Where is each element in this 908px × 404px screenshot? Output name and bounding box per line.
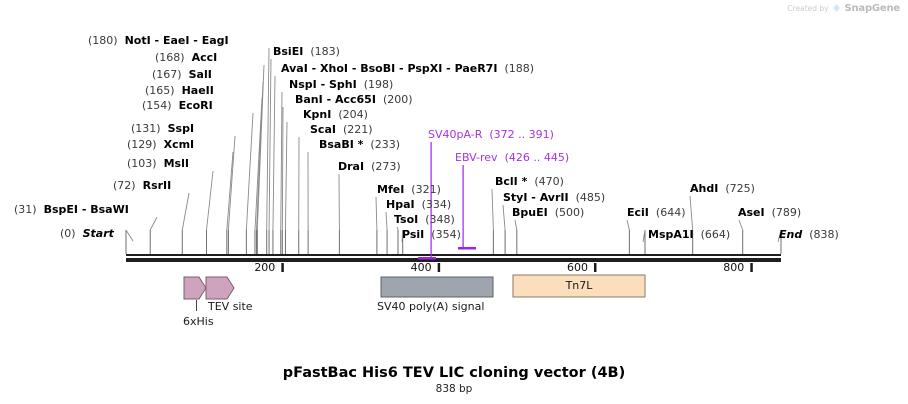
enzyme-name: EcoRI bbox=[179, 99, 213, 112]
enzyme-position: (789) bbox=[772, 206, 802, 219]
enzyme-label[interactable]: AseI (789) bbox=[738, 207, 801, 218]
backbone-thin-line bbox=[126, 254, 781, 256]
enzyme-position: (31) bbox=[14, 203, 37, 216]
enzyme-name: BsoBI bbox=[360, 62, 395, 75]
enzyme-cut-tick bbox=[266, 230, 267, 254]
enzyme-cut-tick bbox=[226, 230, 227, 254]
enzyme-cut-tick bbox=[282, 230, 283, 254]
enzyme-name: Acc65I bbox=[335, 93, 376, 106]
enzyme-name: MspA1I bbox=[648, 228, 694, 241]
enzyme-label[interactable]: HpaI (334) bbox=[386, 199, 451, 210]
enzyme-cut-tick bbox=[246, 230, 247, 254]
enzyme-position: (644) bbox=[656, 206, 686, 219]
enzyme-label[interactable]: MfeI (321) bbox=[377, 184, 441, 195]
enzyme-leader-line bbox=[150, 217, 157, 230]
enzyme-label[interactable]: BanI - Acc65I (200) bbox=[295, 94, 413, 105]
enzyme-position: (131) bbox=[131, 122, 161, 135]
enzyme-name-separator: - bbox=[189, 34, 201, 47]
enzyme-label[interactable]: (0) Start bbox=[60, 228, 114, 239]
enzyme-position: (129) bbox=[127, 138, 157, 151]
enzyme-position: (183) bbox=[310, 45, 340, 58]
enzyme-cut-tick bbox=[150, 230, 151, 254]
map-graphics-layer bbox=[0, 0, 908, 404]
enzyme-position: (180) bbox=[88, 34, 118, 47]
enzyme-label[interactable]: AvaI - XhoI - BsoBI - PspXI - PaeR7I (18… bbox=[281, 63, 534, 74]
enzyme-label[interactable]: PsiI (354) bbox=[402, 229, 461, 240]
enzyme-position: (348) bbox=[425, 213, 455, 226]
enzyme-position: (188) bbox=[504, 62, 534, 75]
enzyme-name: PsiI bbox=[402, 228, 424, 241]
enzyme-leader-line bbox=[492, 189, 493, 230]
enzyme-position: (233) bbox=[370, 138, 400, 151]
enzyme-label[interactable]: BsiEI (183) bbox=[273, 46, 340, 57]
enzyme-leader-line bbox=[269, 59, 271, 230]
enzyme-leader-line bbox=[273, 76, 275, 230]
enzyme-cut-tick bbox=[376, 230, 377, 254]
enzyme-label[interactable]: (168) AccI bbox=[155, 52, 217, 63]
enzyme-label[interactable]: KpnI (204) bbox=[303, 109, 368, 120]
enzyme-name: SspI bbox=[168, 122, 194, 135]
enzyme-leader-line bbox=[690, 196, 693, 230]
enzyme-cut-tick bbox=[182, 230, 183, 254]
enzyme-label[interactable]: (129) XcmI bbox=[127, 139, 194, 150]
enzyme-name: XhoI bbox=[320, 62, 348, 75]
primer-label[interactable]: EBV-rev (426 .. 445) bbox=[455, 152, 569, 163]
enzyme-position: (664) bbox=[701, 228, 731, 241]
enzyme-name: BpuEI bbox=[512, 206, 548, 219]
enzyme-name: BsaWI bbox=[90, 203, 129, 216]
enzyme-label[interactable]: StyI - AvrII (485) bbox=[503, 192, 605, 203]
enzyme-label[interactable]: (103) MslI bbox=[127, 158, 189, 169]
enzyme-cut-tick bbox=[228, 230, 229, 254]
enzyme-label[interactable]: BpuEI (500) bbox=[512, 207, 584, 218]
enzyme-label[interactable]: (180) NotI - EaeI - EagI bbox=[88, 35, 229, 46]
primer-bar bbox=[418, 257, 436, 260]
enzyme-position: (321) bbox=[411, 183, 441, 196]
enzyme-label[interactable]: (167) SalI bbox=[152, 69, 212, 80]
enzyme-name: StyI bbox=[503, 191, 527, 204]
enzyme-name-separator: - bbox=[151, 34, 163, 47]
primer-name: SV40pA-R bbox=[428, 128, 482, 141]
enzyme-name: End bbox=[779, 228, 802, 241]
enzyme-cut-tick bbox=[206, 230, 207, 254]
enzyme-leader-line bbox=[282, 107, 283, 230]
enzyme-name: PspXI bbox=[407, 62, 442, 75]
enzyme-position: (198) bbox=[364, 78, 394, 91]
enzyme-cut-tick bbox=[272, 230, 273, 254]
enzyme-cut-tick bbox=[269, 230, 270, 254]
enzyme-name: RsrII bbox=[143, 179, 172, 192]
enzyme-name: XcmI bbox=[164, 138, 195, 151]
enzyme-name: SalI bbox=[189, 68, 212, 81]
ruler-tick-mark bbox=[281, 263, 284, 272]
enzyme-cut-tick bbox=[254, 230, 255, 254]
primer-range: (372 .. 391) bbox=[489, 128, 554, 141]
enzyme-name: BsaBI * bbox=[319, 138, 363, 151]
enzyme-name: Start bbox=[83, 227, 114, 240]
enzyme-leader-line bbox=[386, 212, 387, 230]
enzyme-label[interactable]: BsaBI * (233) bbox=[319, 139, 400, 150]
feature-label[interactable]: 6xHis bbox=[183, 315, 214, 328]
feature-label[interactable]: SV40 poly(A) signal bbox=[377, 300, 484, 313]
enzyme-leader-line bbox=[397, 227, 398, 230]
enzyme-position: (354) bbox=[431, 228, 461, 241]
enzyme-leader-line bbox=[285, 122, 287, 230]
enzyme-cut-tick bbox=[298, 230, 299, 254]
enzyme-name: DraI bbox=[338, 160, 364, 173]
enzyme-cut-tick bbox=[308, 230, 309, 254]
enzyme-name-separator: - bbox=[395, 62, 407, 75]
enzyme-leader-line bbox=[376, 197, 377, 230]
enzyme-label[interactable]: (31) BspEI - BsaWI bbox=[14, 204, 129, 215]
plasmid-map-canvas: Created by ♦ SnapGene (180) NotI - EaeI … bbox=[0, 0, 908, 404]
ruler-tick-label: 400 bbox=[411, 261, 432, 274]
backbone-thick-line bbox=[126, 258, 781, 262]
enzyme-label[interactable]: End (838) bbox=[779, 229, 839, 240]
enzyme-cut-tick bbox=[398, 230, 399, 254]
primer-range: (426 .. 445) bbox=[505, 151, 570, 164]
enzyme-label[interactable]: EciI (644) bbox=[627, 207, 686, 218]
feature-pointer-line bbox=[196, 300, 197, 311]
primer-name: EBV-rev bbox=[455, 151, 498, 164]
enzyme-name-separator: - bbox=[308, 62, 320, 75]
sequence-length-label: 838 bp bbox=[0, 383, 908, 395]
enzyme-position: (200) bbox=[383, 93, 413, 106]
enzyme-cut-tick bbox=[285, 230, 286, 254]
enzyme-name-separator: - bbox=[527, 191, 539, 204]
enzyme-name: BclI * bbox=[495, 175, 527, 188]
enzyme-name: EciI bbox=[627, 206, 649, 219]
enzyme-cut-tick bbox=[256, 230, 257, 254]
ruler-tick-label: 200 bbox=[254, 261, 275, 274]
enzyme-name: ScaI bbox=[310, 123, 336, 136]
enzyme-leader-line bbox=[739, 220, 743, 230]
enzyme-label[interactable]: (165) HaeII bbox=[145, 85, 214, 96]
primer-label[interactable]: SV40pA-R (372 .. 391) bbox=[428, 129, 554, 140]
enzyme-name: EaeI bbox=[163, 34, 190, 47]
enzyme-cut-tick bbox=[280, 230, 281, 254]
feature-arrow bbox=[184, 277, 206, 299]
enzyme-position: (103) bbox=[127, 157, 157, 170]
enzyme-leader-line bbox=[126, 230, 133, 241]
enzyme-label[interactable]: NspI - SphI (198) bbox=[289, 79, 393, 90]
enzyme-leader-line bbox=[281, 92, 282, 230]
enzyme-leader-line bbox=[515, 220, 517, 230]
enzyme-leader-line bbox=[503, 205, 505, 230]
enzyme-leader-line bbox=[207, 171, 213, 230]
enzyme-position: (334) bbox=[422, 198, 452, 211]
enzyme-cut-tick bbox=[742, 230, 743, 254]
enzyme-name: AvrII bbox=[540, 191, 569, 204]
enzyme-label[interactable]: (72) RsrII bbox=[113, 180, 171, 191]
enzyme-name: TsoI bbox=[394, 213, 418, 226]
enzyme-position: (470) bbox=[534, 175, 564, 188]
ruler-tick-label: 600 bbox=[567, 261, 588, 274]
enzyme-cut-tick bbox=[493, 230, 494, 254]
enzyme-name: MslI bbox=[164, 157, 189, 170]
enzyme-cut-tick bbox=[339, 230, 340, 254]
enzyme-name: MfeI bbox=[377, 183, 404, 196]
ruler-tick-mark bbox=[750, 263, 753, 272]
enzyme-name-separator: - bbox=[348, 62, 360, 75]
feature-arrow bbox=[206, 277, 234, 299]
enzyme-name: AccI bbox=[192, 51, 218, 64]
enzyme-name: AseI bbox=[738, 206, 765, 219]
enzyme-position: (221) bbox=[343, 123, 373, 136]
ruler-tick-mark bbox=[594, 263, 597, 272]
enzyme-leader-line bbox=[267, 48, 269, 230]
enzyme-leader-line bbox=[246, 113, 253, 230]
enzyme-name: HaeII bbox=[182, 84, 214, 97]
enzyme-label[interactable]: TsoI (348) bbox=[394, 214, 455, 225]
enzyme-position: (273) bbox=[371, 160, 401, 173]
enzyme-cut-tick bbox=[629, 230, 630, 254]
feature-label[interactable]: Tn7L bbox=[513, 279, 645, 292]
enzyme-name: AhdI bbox=[690, 182, 718, 195]
enzyme-position: (725) bbox=[725, 182, 755, 195]
enzyme-cut-tick bbox=[516, 230, 517, 254]
enzyme-position: (485) bbox=[576, 191, 606, 204]
enzyme-name: AvaI bbox=[281, 62, 308, 75]
feature-label[interactable]: TEV site bbox=[208, 300, 253, 313]
enzyme-label[interactable]: ScaI (221) bbox=[310, 124, 373, 135]
enzyme-position: (165) bbox=[145, 84, 175, 97]
enzyme-name-separator: - bbox=[442, 62, 454, 75]
enzyme-position: (204) bbox=[338, 108, 368, 121]
enzyme-position: (838) bbox=[809, 228, 839, 241]
enzyme-name: HpaI bbox=[386, 198, 415, 211]
enzyme-name: SphI bbox=[329, 78, 357, 91]
enzyme-name-separator: - bbox=[78, 203, 90, 216]
enzyme-name: EagI bbox=[202, 34, 229, 47]
enzyme-position: (0) bbox=[60, 227, 76, 240]
enzyme-label[interactable]: MspA1I (664) bbox=[648, 229, 730, 240]
enzyme-cut-tick bbox=[505, 230, 506, 254]
enzyme-leader-line bbox=[182, 193, 189, 230]
enzyme-position: (168) bbox=[155, 51, 185, 64]
enzyme-label[interactable]: AhdI (725) bbox=[690, 183, 755, 194]
enzyme-position: (167) bbox=[152, 68, 182, 81]
enzyme-leader-line bbox=[228, 136, 235, 230]
enzyme-cut-tick bbox=[387, 230, 388, 254]
enzyme-position: (154) bbox=[142, 99, 172, 112]
enzyme-name: KpnI bbox=[303, 108, 331, 121]
enzyme-name: NotI bbox=[125, 34, 151, 47]
enzyme-cut-tick bbox=[126, 230, 127, 254]
enzyme-position: (500) bbox=[555, 206, 585, 219]
enzyme-leader-line bbox=[627, 220, 629, 230]
enzyme-label[interactable]: (154) EcoRI bbox=[142, 100, 213, 111]
primer-leader-line bbox=[463, 165, 464, 247]
ruler-tick-mark bbox=[438, 263, 441, 272]
enzyme-label[interactable]: BclI * (470) bbox=[495, 176, 564, 187]
enzyme-name-separator: - bbox=[323, 93, 335, 106]
enzyme-name: BanI bbox=[295, 93, 323, 106]
enzyme-name: PaeR7I bbox=[455, 62, 498, 75]
enzyme-name-separator: - bbox=[317, 78, 329, 91]
primer-bar bbox=[458, 247, 476, 250]
feature-box bbox=[381, 277, 493, 297]
ruler-tick-label: 800 bbox=[723, 261, 744, 274]
enzyme-leader-line bbox=[227, 152, 233, 230]
enzyme-name: BspEI bbox=[44, 203, 78, 216]
enzyme-label[interactable]: (131) SspI bbox=[131, 123, 194, 134]
page-title: pFastBac His6 TEV LIC cloning vector (4B… bbox=[0, 365, 908, 381]
enzyme-label[interactable]: DraI (273) bbox=[338, 161, 401, 172]
enzyme-name: BsiEI bbox=[273, 45, 303, 58]
enzyme-position: (72) bbox=[113, 179, 136, 192]
enzyme-name: NspI bbox=[289, 78, 317, 91]
